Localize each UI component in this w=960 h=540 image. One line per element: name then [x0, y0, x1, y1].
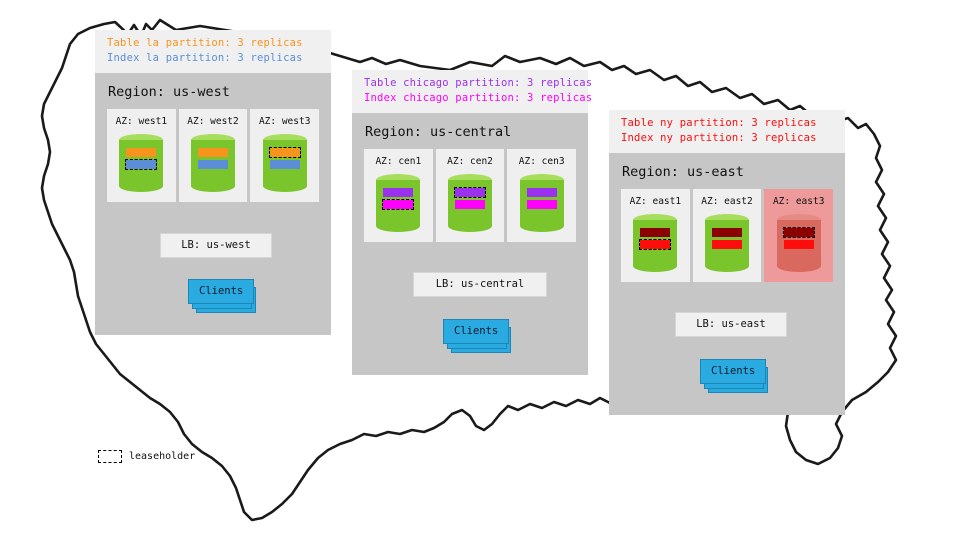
clients-us-west[interactable]: Clients [188, 279, 254, 304]
region-us-central-title: Region: us-central [352, 113, 588, 149]
index-replica-bar [784, 240, 814, 249]
lb-us-west[interactable]: LB: us-west [160, 233, 272, 258]
partition-line-table-ny: Table ny partition: 3 replicas [621, 116, 833, 131]
table-replica-bar-leaseholder [270, 148, 300, 157]
az-west3[interactable]: AZ: west3 [250, 109, 319, 202]
cylinder-bottom [119, 180, 163, 192]
az-west1-label: AZ: west1 [116, 116, 167, 127]
clients-us-central[interactable]: Clients [443, 319, 509, 344]
node-west1[interactable] [119, 134, 163, 192]
leaseholder-legend: leaseholder [98, 450, 195, 463]
clients-us-central-group[interactable]: Clients [443, 319, 509, 344]
node-east2[interactable] [705, 214, 749, 272]
az-west3-label: AZ: west3 [259, 116, 310, 127]
replica-bars [119, 148, 163, 169]
region-us-west-partition-legend: Table la partition: 3 replicas Index la … [95, 30, 331, 73]
table-replica-bar [198, 148, 228, 157]
lb-us-central[interactable]: LB: us-central [413, 272, 547, 297]
table-replica-bar [640, 228, 670, 237]
az-east1-label: AZ: east1 [630, 196, 681, 207]
region-us-east-partition-legend: Table ny partition: 3 replicas Index ny … [609, 110, 845, 153]
cylinder-bottom [376, 220, 420, 232]
replica-bars [263, 148, 307, 169]
az-east2-label: AZ: east2 [701, 196, 752, 207]
cylinder-bottom [633, 260, 677, 272]
index-replica-bar-leaseholder [383, 200, 413, 209]
leaseholder-legend-label: leaseholder [129, 451, 195, 462]
dashed-rectangle-icon [98, 450, 122, 463]
az-cen2[interactable]: AZ: cen2 [436, 149, 505, 242]
node-cen3[interactable] [520, 174, 564, 232]
clients-us-east-group[interactable]: Clients [700, 359, 766, 384]
partition-line-table-chicago: Table chicago partition: 3 replicas [364, 76, 576, 91]
az-cen1-label: AZ: cen1 [375, 156, 421, 167]
clients-us-west-group[interactable]: Clients [188, 279, 254, 304]
az-west2[interactable]: AZ: west2 [179, 109, 248, 202]
region-us-central-partition-legend: Table chicago partition: 3 replicas Inde… [352, 70, 588, 113]
lb-us-east[interactable]: LB: us-east [675, 312, 787, 337]
index-replica-bar [527, 200, 557, 209]
replica-bars [448, 188, 492, 209]
replica-bars [376, 188, 420, 209]
az-east3-failed[interactable]: AZ: east3 [764, 189, 833, 282]
az-row-us-west: AZ: west1 AZ: west2 [107, 109, 319, 202]
cylinder-bottom [777, 260, 821, 272]
az-cen3-label: AZ: cen3 [519, 156, 565, 167]
index-replica-bar-leaseholder [126, 160, 156, 169]
index-replica-bar [455, 200, 485, 209]
cylinder-bottom [191, 180, 235, 192]
az-west1[interactable]: AZ: west1 [107, 109, 176, 202]
partition-line-table-la: Table la partition: 3 replicas [107, 36, 319, 51]
index-replica-bar [712, 240, 742, 249]
index-replica-bar [270, 160, 300, 169]
replica-bars [705, 228, 749, 249]
az-east3-label: AZ: east3 [773, 196, 824, 207]
partition-line-index-ny: Index ny partition: 3 replicas [621, 131, 833, 146]
partition-line-index-chicago: Index chicago partition: 3 replicas [364, 91, 576, 106]
table-replica-bar [527, 188, 557, 197]
table-replica-bar [712, 228, 742, 237]
cylinder-bottom [448, 220, 492, 232]
az-west2-label: AZ: west2 [187, 116, 238, 127]
az-cen3[interactable]: AZ: cen3 [507, 149, 576, 242]
node-cen2[interactable] [448, 174, 492, 232]
az-east2[interactable]: AZ: east2 [693, 189, 762, 282]
region-us-west-title: Region: us-west [95, 73, 331, 109]
table-replica-bar [383, 188, 413, 197]
table-replica-bar [126, 148, 156, 157]
index-replica-bar-leaseholder [640, 240, 670, 249]
table-replica-bar-leaseholder [784, 228, 814, 237]
node-east1[interactable] [633, 214, 677, 272]
az-row-us-east: AZ: east1 AZ: east2 [621, 189, 833, 282]
partition-line-index-la: Index la partition: 3 replicas [107, 51, 319, 66]
az-cen2-label: AZ: cen2 [447, 156, 493, 167]
region-us-east-title: Region: us-east [609, 153, 845, 189]
node-west3[interactable] [263, 134, 307, 192]
clients-us-east[interactable]: Clients [700, 359, 766, 384]
replica-bars [633, 228, 677, 249]
index-replica-bar [198, 160, 228, 169]
replica-bars [777, 228, 821, 249]
cylinder-bottom [520, 220, 564, 232]
cylinder-bottom [263, 180, 307, 192]
node-cen1[interactable] [376, 174, 420, 232]
az-row-us-central: AZ: cen1 AZ: cen2 [364, 149, 576, 242]
replica-bars [191, 148, 235, 169]
node-west2[interactable] [191, 134, 235, 192]
table-replica-bar-leaseholder [455, 188, 485, 197]
replica-bars [520, 188, 564, 209]
az-east1[interactable]: AZ: east1 [621, 189, 690, 282]
node-east3-failed[interactable] [777, 214, 821, 272]
az-cen1[interactable]: AZ: cen1 [364, 149, 433, 242]
cylinder-bottom [705, 260, 749, 272]
